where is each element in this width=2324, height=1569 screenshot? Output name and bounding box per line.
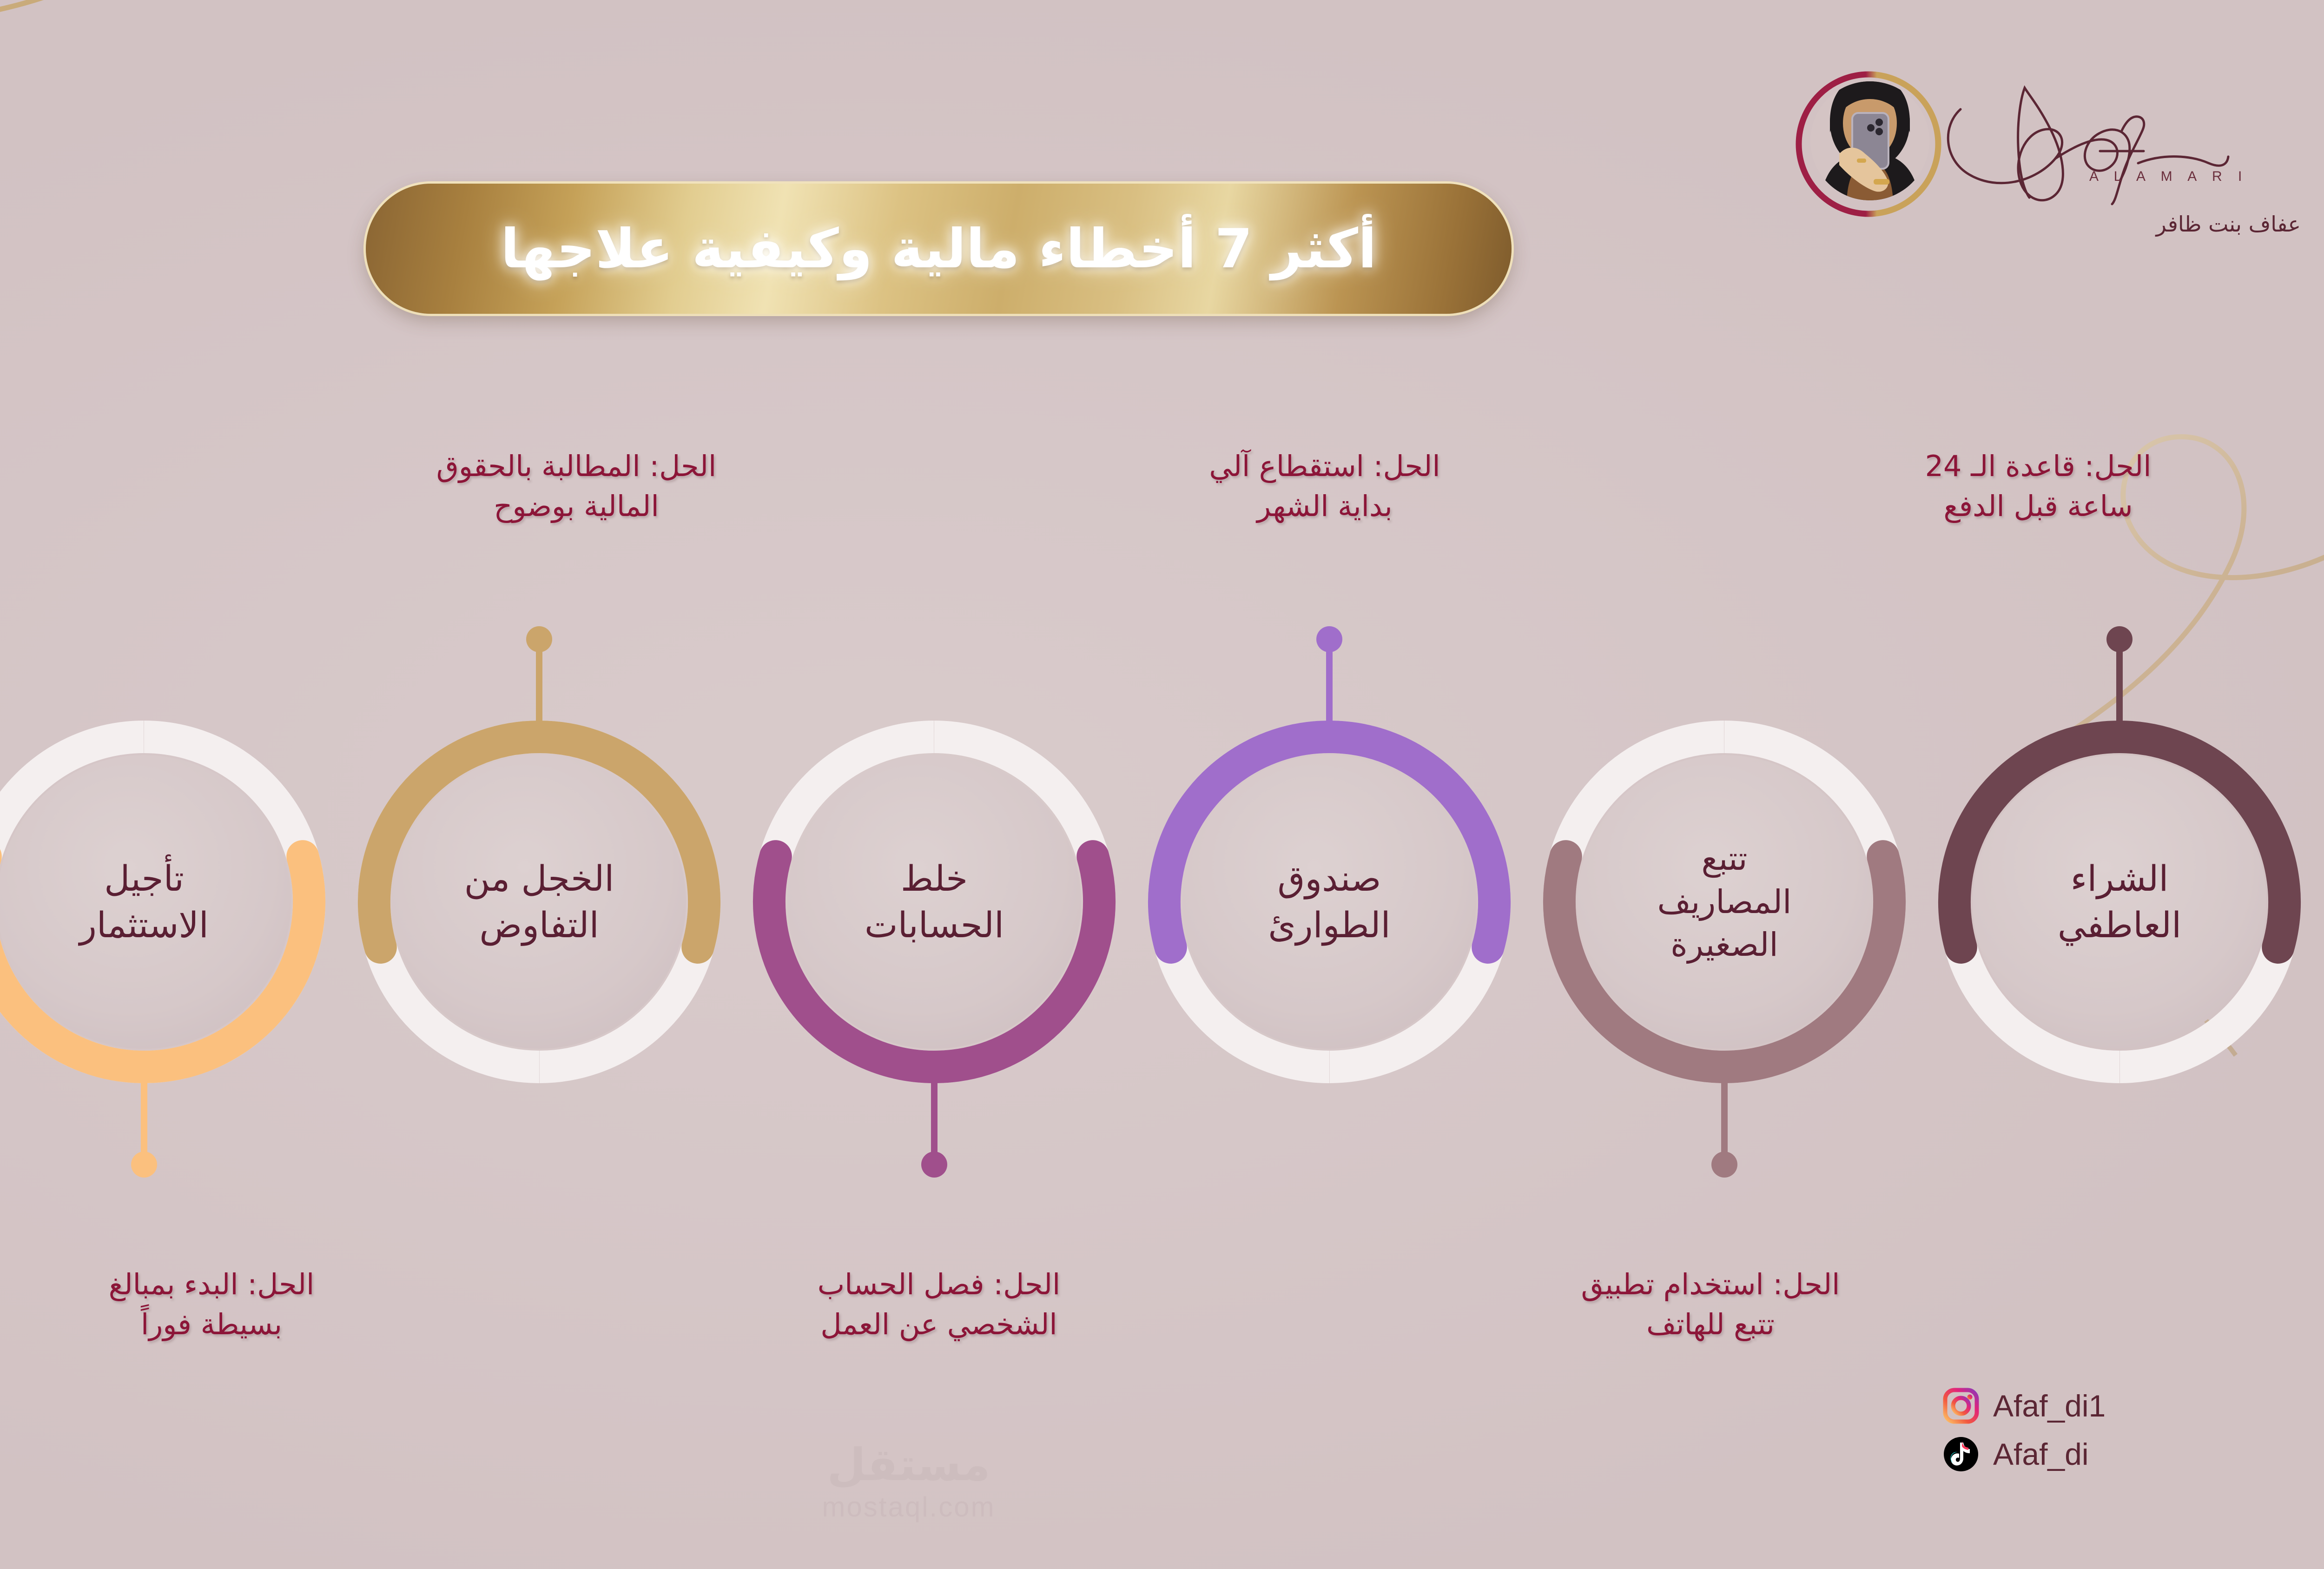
solution-text-4: الحل: فصل الحساب الشخصي عن العمل — [688, 1264, 1190, 1344]
instagram-handle[interactable]: Afaf_di1 — [1993, 1388, 2106, 1423]
solution-text-5: الحل: استقطاع آلي بداية الشهر — [1088, 446, 1562, 526]
tiktok-icon[interactable] — [1943, 1436, 1979, 1472]
social-links: Afaf_di1 Afaf_di — [1943, 1388, 2296, 1484]
node-label-2: تأجيلالاستثمار — [0, 702, 344, 1102]
node-label-4: خلطالحسابات — [734, 702, 1134, 1102]
node-circle-4[interactable]: خلطالحسابات — [734, 702, 1134, 1102]
instagram-row[interactable]: Afaf_di1 — [1943, 1388, 2296, 1424]
node-label-7: الشراءالعاطفي — [1920, 702, 2319, 1102]
solution-text-6: الحل: استخدام تطبيق تتبع للهاتف — [1436, 1264, 1985, 1344]
node-circle-2[interactable]: تأجيلالاستثمار — [0, 702, 344, 1102]
node-label-5: صندوقالطوارئ — [1129, 702, 1529, 1102]
node-circle-6[interactable]: تتبعالمصاريفالصغيرة — [1525, 702, 1924, 1102]
node-label-6: تتبعالمصاريفالصغيرة — [1525, 702, 1924, 1102]
node-circle-3[interactable]: الخجل منالتفاوض — [339, 702, 739, 1102]
node-label-3: الخجل منالتفاوض — [339, 702, 739, 1102]
instagram-icon[interactable] — [1943, 1388, 1979, 1424]
solution-text-3: الحل: المطالبة بالحقوق المالية بوضوح — [297, 446, 855, 526]
solution-text-1: الحل: تنويع مصادر الدخل تدريجياً — [0, 451, 56, 530]
solution-text-2: الحل: البدء بمبالغ بسيطة فوراً — [0, 1264, 451, 1344]
tiktok-row[interactable]: Afaf_di — [1943, 1436, 2296, 1472]
node-circle-5[interactable]: صندوقالطوارئ — [1129, 702, 1529, 1102]
tiktok-handle[interactable]: Afaf_di — [1993, 1437, 2088, 1472]
solution-text-7: الحل: قاعدة الـ 24 ساعة قبل الدفع — [1785, 446, 2291, 526]
node-circle-7[interactable]: الشراءالعاطفي — [1920, 702, 2319, 1102]
